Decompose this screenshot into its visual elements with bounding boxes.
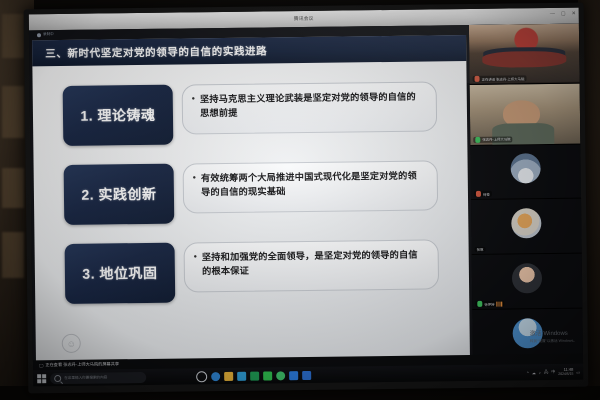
- record-dot-icon: [37, 33, 41, 37]
- slide-row-pill: • 坚持马克思主义理论武装是坚定对党的领导的自信的思想前提: [182, 81, 438, 134]
- ime-indicator[interactable]: 中: [551, 369, 555, 375]
- screen-share-status-text: 正在查看 张志丹-上师大马院的屏幕共享: [45, 361, 119, 368]
- participant-tile[interactable]: 徐伊婷: [472, 254, 583, 310]
- close-icon[interactable]: ✕: [572, 11, 576, 17]
- slide-row-chip-label: 3. 地位巩固: [82, 263, 157, 284]
- slide-title: 三、新时代坚定对党的领导的自信的实践进路: [45, 43, 267, 61]
- slide-row-chip: 3. 地位巩固: [65, 243, 176, 304]
- participant-tile[interactable]: 何俊: [470, 144, 581, 200]
- wechat-icon[interactable]: [263, 371, 272, 380]
- slide-row: 2. 实践创新 • 有效统筹两个大局推进中国式现代化是坚定对党的领导的自信的现实…: [64, 160, 439, 233]
- participant-tile[interactable]: 张志丹-上师大马院: [470, 84, 581, 146]
- bullet-icon: •: [192, 92, 196, 127]
- system-tray[interactable]: ^ ☁ ♪ 🖧 中 11:48 2024/5/15 ▭: [527, 367, 580, 378]
- qq-icon[interactable]: [276, 371, 285, 380]
- participant-tile[interactable]: 张琳: [471, 199, 582, 255]
- participant-nameplate: 正在讲话 张志丹-上师大马院: [473, 76, 527, 83]
- participant-name: 何俊: [483, 192, 490, 197]
- windows-logo-icon: [37, 374, 46, 383]
- file-explorer-icon[interactable]: [224, 371, 233, 380]
- volume-icon[interactable]: ♪: [539, 370, 541, 375]
- tencent-meeting-icon[interactable]: [289, 371, 298, 380]
- participant-nameplate: 张琳: [475, 247, 486, 252]
- participant-rail[interactable]: 正在讲话 张志丹-上师大马院 张志丹-上师大马院 何俊: [469, 24, 583, 365]
- mail-icon[interactable]: [237, 371, 246, 380]
- bullet-icon: •: [193, 171, 197, 206]
- shared-screen-area[interactable]: 录制中 三、新时代坚定对党的领导的自信的实践进路 1. 理论铸魂 •: [29, 25, 473, 370]
- participant-nameplate: 徐伊婷: [475, 301, 504, 307]
- window-title: 腾讯会议: [294, 16, 314, 23]
- search-icon: [54, 375, 61, 382]
- slide-row-chip: 2. 实践创新: [64, 164, 175, 225]
- slide-title-banner: 三、新时代坚定对党的领导的自信的实践进路: [32, 35, 466, 66]
- avatar: [512, 263, 542, 293]
- slide-row-text: 坚持和加强党的全面领导，是坚定对党的领导的自信的根本保证: [202, 248, 427, 286]
- action-center-icon[interactable]: ▭: [576, 369, 580, 374]
- maximize-icon[interactable]: ▢: [561, 11, 566, 17]
- browser-icon[interactable]: [302, 370, 311, 379]
- taskbar-app-icons[interactable]: [196, 369, 311, 381]
- slide-row: 3. 地位巩固 • 坚持和加强党的全面领导，是坚定对党的领导的自信的根本保证: [65, 239, 440, 312]
- slide-row: 1. 理论铸魂 • 坚持马克思主义理论武装是坚定对党的领导的自信的思想前提: [63, 81, 438, 154]
- participant-name: 正在讲话 张志丹-上师大马院: [482, 76, 525, 82]
- participant-name: 徐伊婷: [484, 301, 494, 306]
- cortana-icon[interactable]: [196, 371, 207, 382]
- clock-date: 2024/5/15: [558, 372, 573, 377]
- slide-row-chip-label: 1. 理论铸魂: [80, 105, 155, 126]
- avatar: [510, 153, 540, 183]
- watermark-line-2: 转到"设置"以激活 Windows。: [530, 338, 577, 346]
- slide-row-text: 有效统筹两个大局推进中国式现代化是坚定对党的领导的自信的现实基础: [201, 169, 426, 207]
- microphone-muted-icon: [475, 76, 480, 82]
- taskbar-clock[interactable]: 11:48 2024/5/15: [558, 367, 573, 377]
- microphone-muted-icon: [476, 191, 481, 197]
- video-feed-icon: [470, 84, 581, 145]
- smiley-icon: ☺: [62, 334, 81, 353]
- signal-strength-icon: [496, 301, 502, 306]
- recording-label: 录制中: [43, 32, 54, 37]
- microphone-icon: [477, 301, 482, 307]
- participant-tile[interactable]: 正在讲话 张志丹-上师大马院: [469, 24, 580, 86]
- monitor: 腾讯会议 — ▢ ✕ 录制中 三、新时代坚定对党的领导的自信的实践进路: [24, 3, 589, 394]
- minimize-icon[interactable]: —: [550, 11, 555, 17]
- participant-name: 张志丹-上师大马院: [482, 137, 510, 142]
- windows-activation-watermark: 激活 Windows 转到"设置"以激活 Windows。: [530, 331, 577, 346]
- recording-badge: 录制中: [37, 32, 54, 37]
- presentation-slide: 三、新时代坚定对党的领导的自信的实践进路 1. 理论铸魂 • 坚持马克思主义理论…: [32, 35, 470, 362]
- participant-nameplate: 张志丹-上师大马院: [473, 136, 512, 142]
- edge-icon[interactable]: [211, 372, 220, 381]
- screen: 腾讯会议 — ▢ ✕ 录制中 三、新时代坚定对党的领导的自信的实践进路: [29, 8, 584, 387]
- screen-share-icon: 🖵: [39, 363, 43, 368]
- slide-row-pill: • 有效统筹两个大局推进中国式现代化是坚定对党的领导的自信的现实基础: [183, 160, 439, 213]
- taskbar-search-box[interactable]: 在这里输入你要搜索的内容: [50, 371, 146, 383]
- slide-row-pill: • 坚持和加强党的全面领导，是坚定对党的领导的自信的根本保证: [184, 239, 440, 292]
- microphone-icon: [475, 136, 480, 142]
- network-icon[interactable]: 🖧: [544, 369, 549, 376]
- participant-nameplate: 何俊: [474, 191, 492, 197]
- excel-icon[interactable]: [250, 371, 259, 380]
- window-controls[interactable]: — ▢ ✕: [550, 11, 576, 17]
- slide-row-chip-label: 2. 实践创新: [81, 184, 156, 205]
- room-photograph: 腾讯会议 — ▢ ✕ 录制中 三、新时代坚定对党的领导的自信的实践进路: [0, 0, 600, 400]
- avatar: [511, 208, 541, 238]
- taskbar-search-placeholder: 在这里输入你要搜索的内容: [64, 375, 107, 381]
- bullet-icon: •: [194, 250, 198, 285]
- start-button[interactable]: [35, 372, 48, 384]
- cloud-sync-icon[interactable]: ☁: [532, 370, 536, 375]
- slide-content-rows: 1. 理论铸魂 • 坚持马克思主义理论武装是坚定对党的领导的自信的思想前提 2.…: [63, 81, 440, 323]
- slide-row-text: 坚持马克思主义理论武装是坚定对党的领导的自信的思想前提: [200, 90, 425, 128]
- slide-row-chip: 1. 理论铸魂: [63, 85, 174, 146]
- participant-name: 张琳: [477, 247, 484, 252]
- show-hidden-icons-icon[interactable]: ^: [527, 370, 529, 375]
